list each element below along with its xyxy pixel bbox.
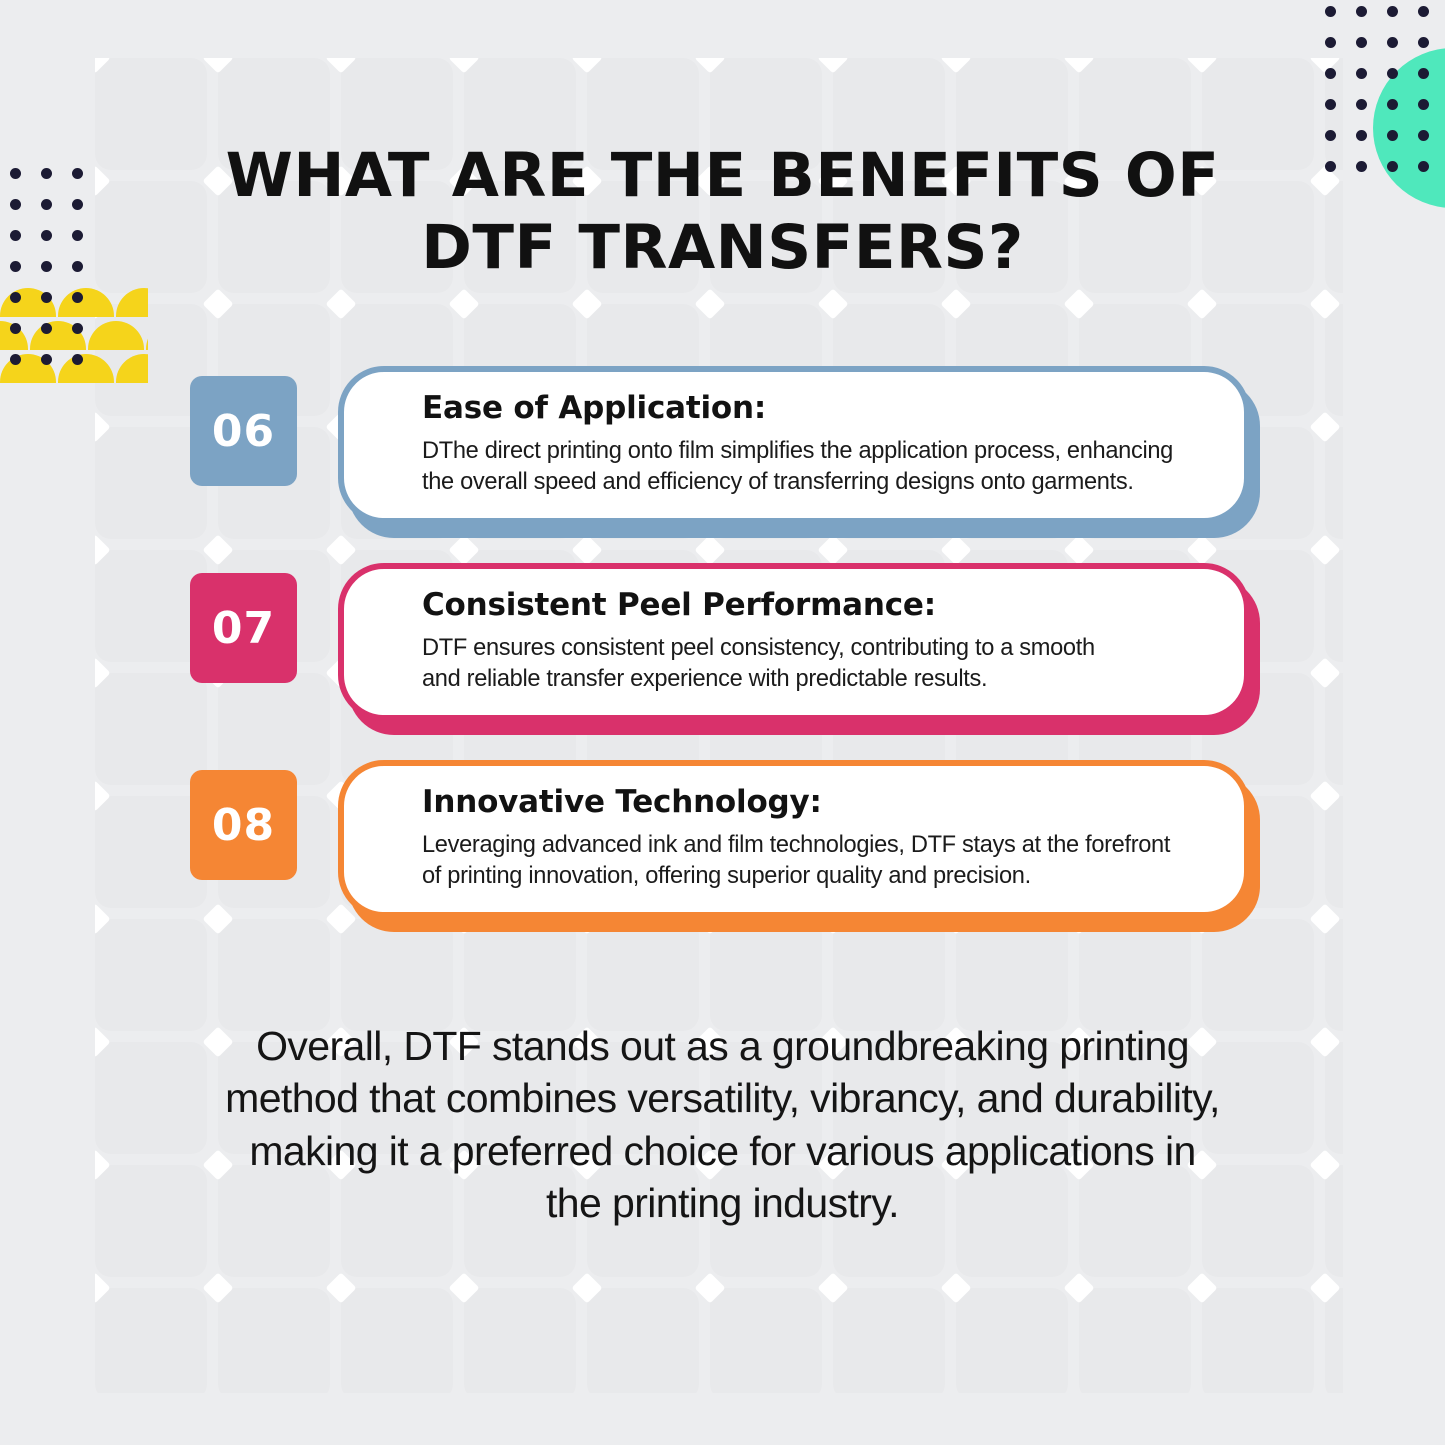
card-number-badge: 07 (190, 573, 297, 683)
card-heading: Innovative Technology: (422, 784, 1204, 821)
grid-cell (218, 919, 330, 1031)
grid-cell (341, 919, 453, 1031)
decorative-dot (1325, 37, 1336, 48)
decorative-dot (1325, 130, 1336, 141)
yellow-dome (116, 354, 148, 383)
card-heading: Ease of Application: (422, 390, 1204, 427)
card-number-badge: 06 (190, 376, 297, 486)
grid-cell (1325, 550, 1343, 662)
decorative-dot (72, 292, 83, 303)
decorative-dot (1356, 68, 1367, 79)
grid-cell (1202, 919, 1314, 1031)
grid-cell (1079, 919, 1191, 1031)
decorative-dot (10, 168, 21, 179)
decorative-dot (72, 230, 83, 241)
card-description: Leveraging advanced ink and film technol… (422, 830, 1177, 892)
grid-cell (1325, 304, 1343, 416)
grid-cell (341, 1288, 453, 1393)
decorative-dot (1387, 161, 1398, 172)
dot-grid-left (10, 168, 120, 398)
grid-cell (710, 1288, 822, 1393)
decorative-dot (1418, 68, 1429, 79)
card-description: DTF ensures consistent peel consistency,… (422, 633, 1177, 695)
dot-grid-top-right (1325, 6, 1445, 206)
decorative-dot (1418, 161, 1429, 172)
grid-cell (1325, 919, 1343, 1031)
grid-cell (218, 1288, 330, 1393)
decorative-dot (1325, 161, 1336, 172)
grid-cell (833, 1288, 945, 1393)
card-body: Ease of Application:DThe direct printing… (338, 366, 1250, 524)
decorative-dot (1387, 99, 1398, 110)
grid-cell (1325, 673, 1343, 785)
card-body: Consistent Peel Performance:DTF ensures … (338, 563, 1250, 721)
decorative-dot (1418, 37, 1429, 48)
grid-cell (464, 1288, 576, 1393)
decorative-dot (1387, 6, 1398, 17)
grid-cell (587, 919, 699, 1031)
grid-cell (833, 919, 945, 1031)
yellow-dome (146, 321, 148, 350)
decorative-dot (1356, 161, 1367, 172)
grid-cell (95, 919, 207, 1031)
grid-cell (1325, 1042, 1343, 1154)
grid-cell (1079, 1288, 1191, 1393)
card-description: DThe direct printing onto film simplifie… (422, 436, 1177, 498)
decorative-dot (1325, 99, 1336, 110)
decorative-dot (72, 323, 83, 334)
decorative-dot (72, 168, 83, 179)
decorative-dot (1325, 6, 1336, 17)
infographic-poster: WHAT ARE THE BENEFITS OF DTF TRANSFERS? … (0, 0, 1445, 1445)
card-number-badge: 08 (190, 770, 297, 880)
decorative-dot (1325, 68, 1336, 79)
decorative-dot (10, 261, 21, 272)
decorative-dot (41, 354, 52, 365)
decorative-dot (10, 230, 21, 241)
decorative-dot (1356, 99, 1367, 110)
decorative-dot (1387, 37, 1398, 48)
decorative-dot (41, 199, 52, 210)
decorative-dot (41, 323, 52, 334)
decorative-dot (1418, 99, 1429, 110)
decorative-dot (41, 261, 52, 272)
grid-cell (956, 919, 1068, 1031)
decorative-dot (10, 354, 21, 365)
grid-cell (1325, 427, 1343, 539)
decorative-dot (72, 199, 83, 210)
grid-cell (1325, 1288, 1343, 1393)
decorative-dot (1356, 6, 1367, 17)
decorative-dot (41, 292, 52, 303)
grid-cell (710, 919, 822, 1031)
decorative-dot (1418, 6, 1429, 17)
decorative-dot (10, 323, 21, 334)
yellow-dome (116, 288, 148, 317)
decorative-dot (1356, 130, 1367, 141)
grid-cell (587, 1288, 699, 1393)
grid-cell (1325, 796, 1343, 908)
grid-cell (95, 1288, 207, 1393)
grid-cell (464, 919, 576, 1031)
closing-paragraph: Overall, DTF stands out as a groundbreak… (150, 1020, 1295, 1230)
decorative-dot (72, 354, 83, 365)
card-body: Innovative Technology:Leveraging advance… (338, 760, 1250, 918)
benefit-card-08: Innovative Technology:Leveraging advance… (190, 760, 1265, 935)
decorative-dot (10, 199, 21, 210)
decorative-dot (1356, 37, 1367, 48)
grid-cell (1202, 1288, 1314, 1393)
grid-cell (1325, 1165, 1343, 1277)
card-heading: Consistent Peel Performance: (422, 587, 1204, 624)
page-title: WHAT ARE THE BENEFITS OF DTF TRANSFERS? (150, 140, 1295, 284)
decorative-dot (41, 230, 52, 241)
decorative-dot (41, 168, 52, 179)
decorative-dot (10, 292, 21, 303)
benefit-card-06: Ease of Application:DThe direct printing… (190, 366, 1265, 541)
decorative-dot (1418, 130, 1429, 141)
grid-cell (956, 1288, 1068, 1393)
decorative-dot (1387, 68, 1398, 79)
benefit-card-07: Consistent Peel Performance:DTF ensures … (190, 563, 1265, 738)
decorative-dot (72, 261, 83, 272)
decorative-dot (1387, 130, 1398, 141)
